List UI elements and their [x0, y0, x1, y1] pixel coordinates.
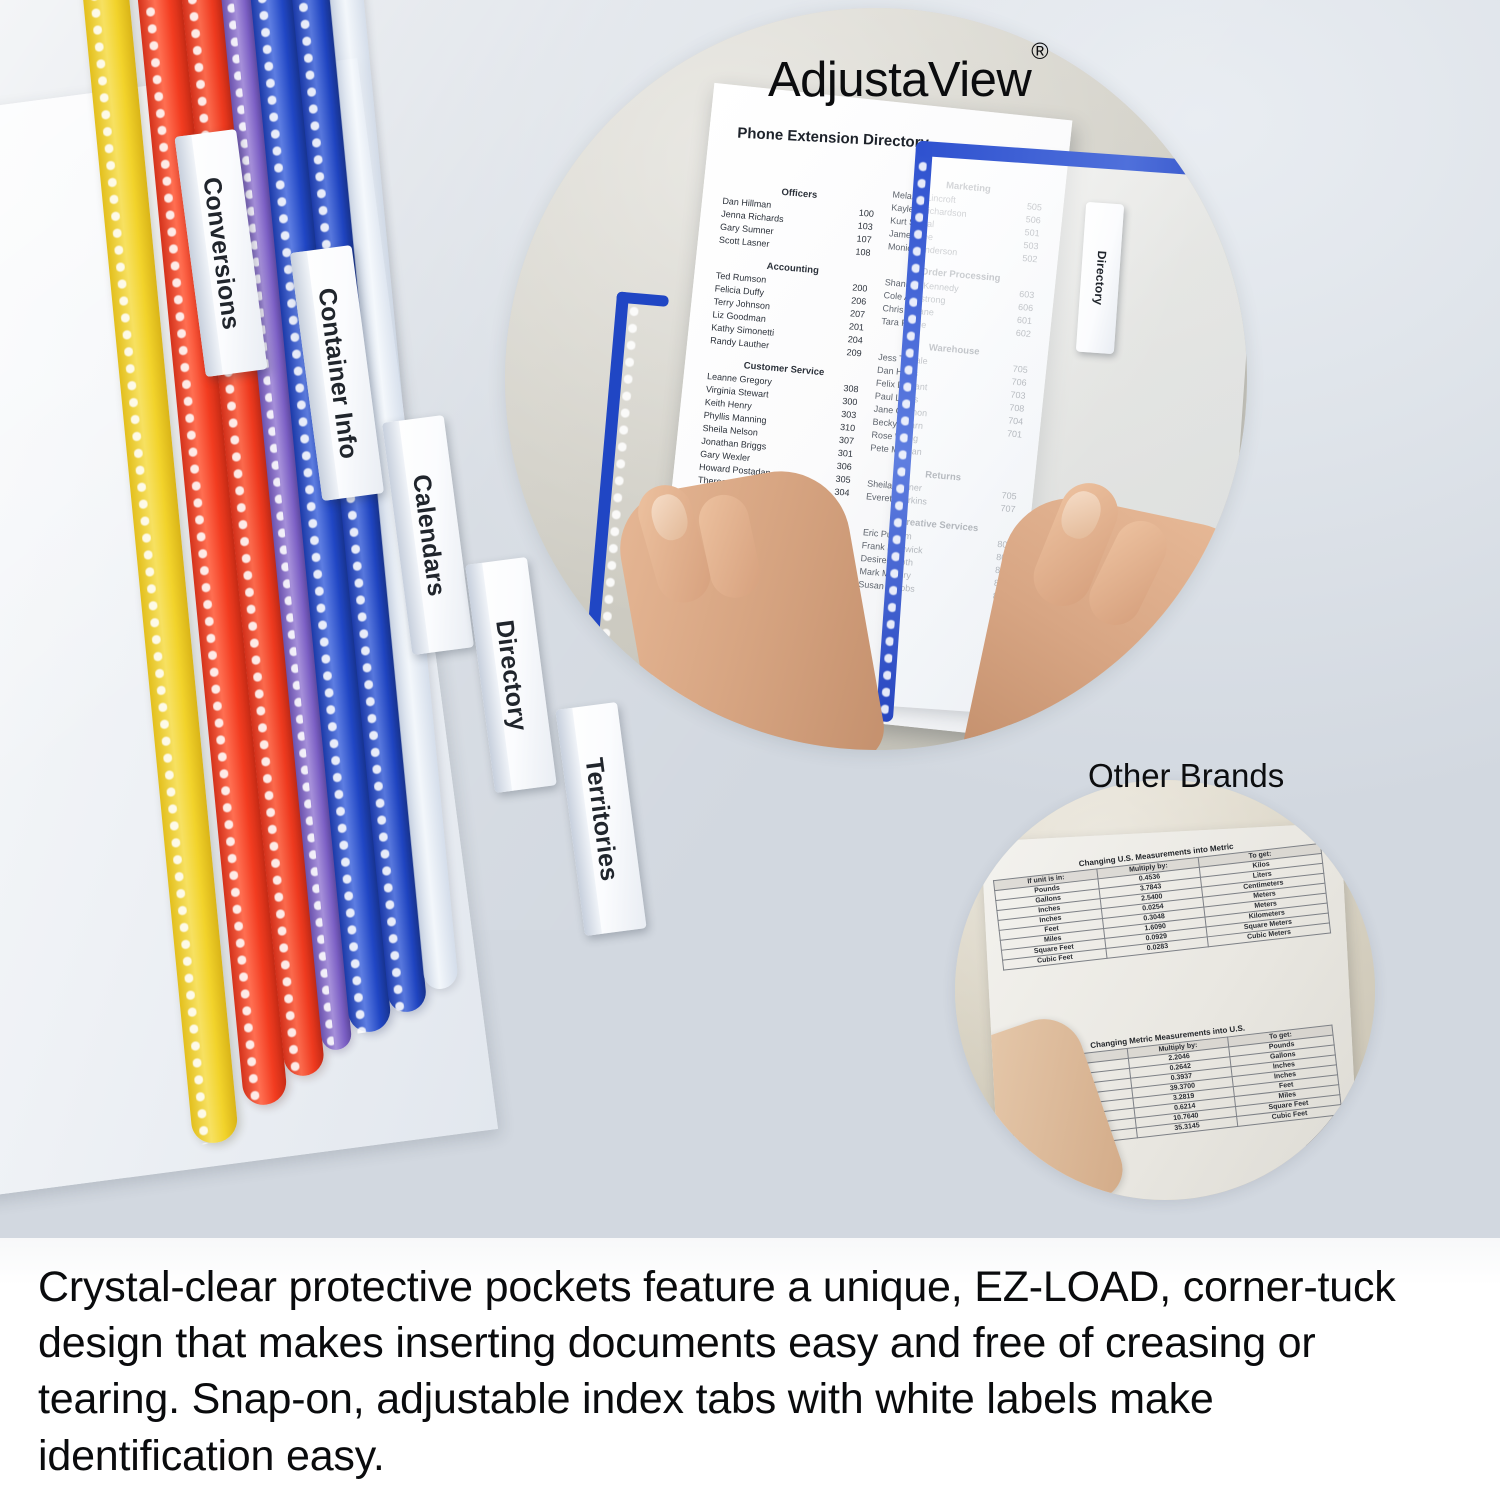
inset-index-tab-label: Directory	[1091, 250, 1109, 305]
feature-caption: Crystal-clear protective pockets feature…	[38, 1259, 1460, 1484]
other-brands-photo-circle: Changing U.S. Measurements into Metric I…	[955, 780, 1375, 1200]
entry-ext: 206	[851, 294, 867, 308]
directory-title: Phone Extension Directory	[737, 125, 929, 152]
other-brands-label: Other Brands	[1088, 757, 1284, 795]
entry-ext: 306	[836, 460, 852, 474]
entry-ext: 301	[837, 447, 853, 461]
entry-ext: 303	[841, 408, 857, 422]
entry-ext: 204	[847, 333, 863, 347]
entry-ext: 207	[849, 307, 865, 321]
entry-ext: 108	[855, 245, 871, 259]
entry-ext: 103	[857, 219, 873, 233]
entry-ext	[848, 500, 849, 513]
entry-ext: 100	[858, 206, 874, 220]
brand-name: AdjustaView	[768, 53, 1031, 107]
adjustaview-photo-circle: Phone Extension Directory Officers Dan H…	[505, 8, 1247, 750]
us-to-metric-table: If unit is in: Multiply by: To get: Poun…	[993, 843, 1331, 971]
us-to-metric-table-wrap: Changing U.S. Measurements into Metric I…	[992, 832, 1331, 971]
entry-ext: 305	[835, 473, 851, 487]
entry-ext: 200	[852, 281, 868, 295]
entry-ext: 300	[842, 395, 858, 409]
entry-ext: 310	[840, 421, 856, 435]
product-marketing-image: Kilos Liters Centimeters Meters Meters K…	[0, 0, 1500, 1500]
entry-ext: 107	[856, 232, 872, 246]
registered-mark: ®	[1031, 38, 1048, 64]
other-brands-sheet: Changing U.S. Measurements into Metric I…	[981, 823, 1361, 1200]
entry-ext: 304	[834, 486, 850, 500]
entry-ext: 307	[838, 434, 854, 448]
entry-ext: 201	[848, 320, 864, 334]
brand-title: AdjustaView®	[768, 52, 1048, 108]
entry-ext: 209	[846, 346, 862, 360]
entry-ext: 308	[843, 382, 859, 396]
